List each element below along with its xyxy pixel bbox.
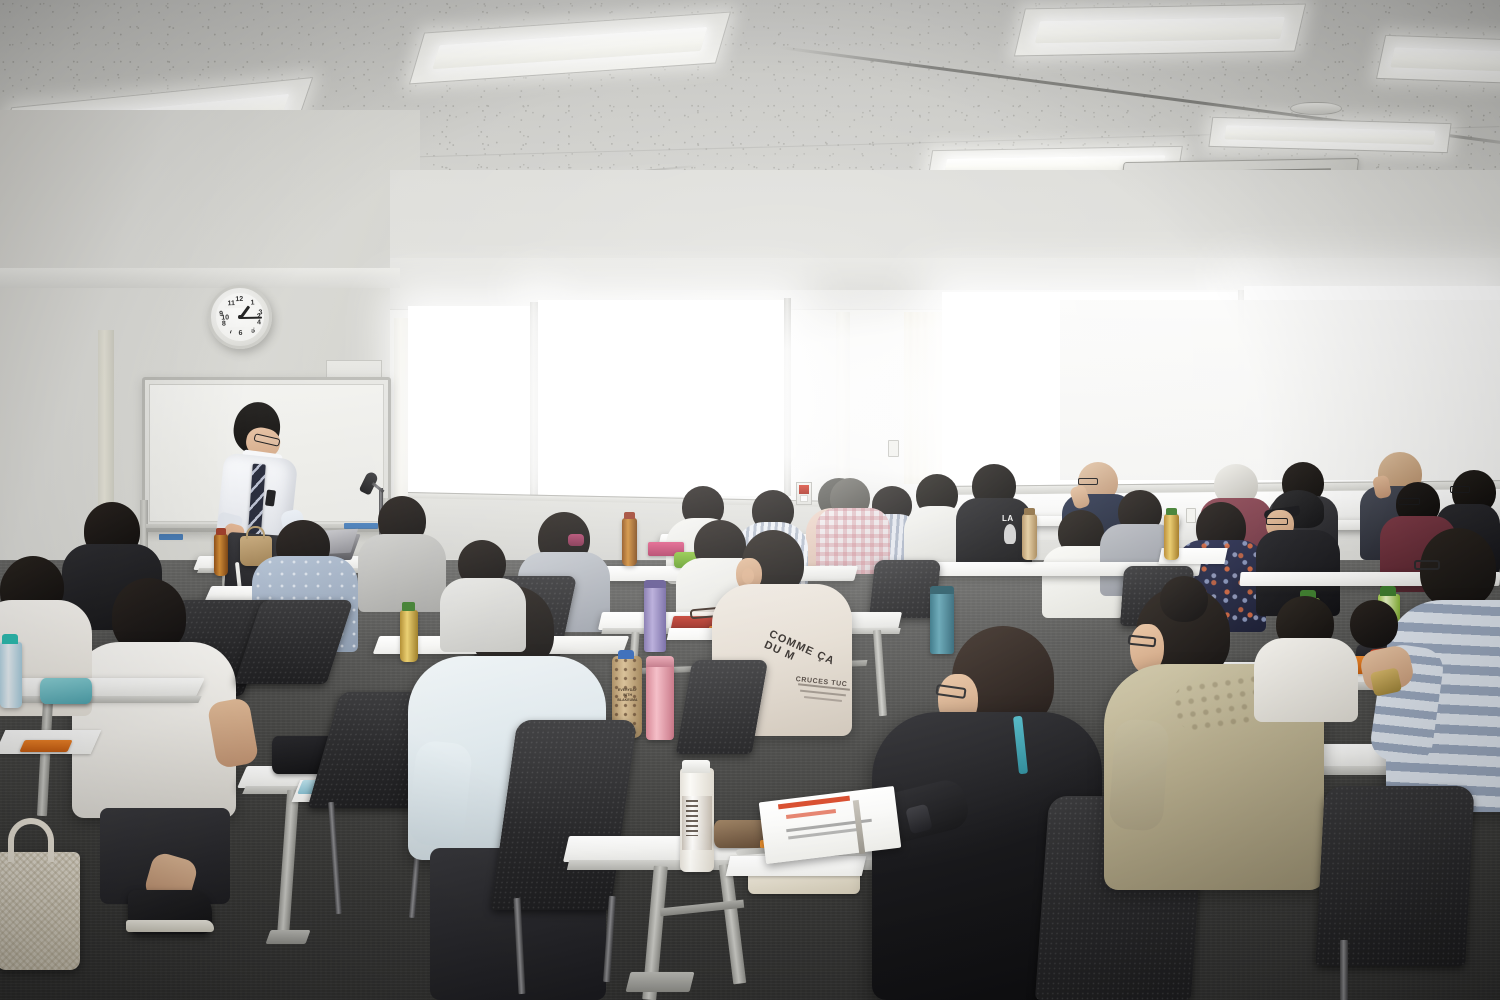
attendee-head [1350, 600, 1398, 648]
clock-brand-band [227, 326, 254, 330]
chair-leg [1340, 940, 1348, 1000]
attendee-body [358, 534, 446, 612]
bottle-cap [682, 760, 710, 773]
table-foot [626, 972, 695, 992]
glasses-icon [1398, 498, 1420, 505]
tee-print-graphic [1004, 524, 1016, 544]
attendee-body [440, 578, 526, 652]
roller-blind[interactable] [538, 300, 788, 496]
thermos-lid [646, 656, 674, 667]
attendee-black-tee [956, 498, 1032, 570]
glasses-icon [1450, 486, 1470, 493]
handbag-handle [246, 526, 265, 539]
tee-print: LA [1002, 514, 1014, 523]
green-tea-bottle[interactable] [1164, 514, 1179, 560]
tote-bag[interactable] [0, 852, 80, 970]
clock-numeral: 10 [221, 314, 229, 321]
bottle-cap [216, 528, 226, 535]
oolong-tea-bottle[interactable] [622, 518, 637, 566]
water-bottle[interactable] [0, 642, 22, 708]
bottle-cover-text: EVERYDAY WITH BLAKEUMA [614, 688, 641, 703]
clock-numeral: 4 [257, 319, 261, 326]
window-mullion [530, 302, 538, 498]
ceiling-light [1376, 35, 1500, 85]
curtain[interactable] [904, 312, 942, 484]
coffee-bottle-label-lines [686, 800, 698, 836]
orange-folder[interactable] [19, 740, 72, 752]
bottle-cap [624, 512, 635, 519]
classroom-photo: 12 1 2 3 4 5 6 7 8 9 10 11 [0, 0, 1500, 1000]
bottle-cap [402, 602, 415, 611]
clock-brand-band [224, 305, 255, 309]
glasses-icon [1266, 518, 1288, 525]
window-panel [538, 300, 788, 496]
ceiling-light [1014, 4, 1306, 57]
ceiling-light [1208, 117, 1451, 153]
tumbler-lid [644, 580, 666, 588]
ear [742, 568, 754, 584]
hair-tie [568, 534, 584, 546]
glasses-icon [1078, 478, 1098, 485]
table-foot [265, 930, 310, 944]
chair[interactable] [1315, 786, 1474, 966]
teal-tumbler[interactable] [930, 592, 954, 654]
back-partition [1060, 300, 1500, 480]
clock-numeral: 3 [258, 309, 262, 316]
oolong-tea-bottle[interactable] [214, 534, 228, 576]
clock-numeral: 6 [239, 330, 243, 337]
water-bottle[interactable] [1022, 514, 1037, 560]
table-row [0, 678, 205, 698]
glasses-icon [1414, 560, 1440, 570]
bottle-cap [1166, 508, 1177, 515]
power-outlet[interactable] [888, 440, 899, 457]
sneaker-sole [126, 920, 214, 932]
bottle-cap [1380, 586, 1396, 596]
clock-face: 12 1 2 3 4 5 6 7 8 9 10 11 [215, 292, 265, 342]
attendee-arm [407, 739, 474, 848]
pencil-case[interactable] [40, 678, 92, 704]
green-tea-bottle[interactable] [400, 610, 418, 662]
attendee-body [1254, 638, 1358, 722]
tote-bag-handle [8, 818, 54, 862]
wall-soffit-left [0, 268, 400, 288]
clock-numeral: 12 [235, 296, 243, 303]
power-outlet[interactable] [1186, 508, 1196, 523]
bottle-cap [618, 650, 634, 659]
tumbler-lid [930, 586, 954, 594]
bottle-cap [1024, 508, 1035, 515]
table-edge [0, 696, 202, 703]
roller-blind[interactable] [408, 306, 534, 496]
bottle-cap [2, 634, 18, 644]
fire-alarm-box[interactable] [796, 482, 812, 505]
smoke-detector-icon [1290, 102, 1342, 115]
attendee-arm [1108, 718, 1170, 831]
pink-thermos[interactable] [646, 664, 674, 740]
attendee-head [1160, 576, 1208, 622]
window-panel [408, 306, 534, 496]
purple-tumbler[interactable] [644, 586, 666, 652]
window-mullion [784, 298, 791, 496]
